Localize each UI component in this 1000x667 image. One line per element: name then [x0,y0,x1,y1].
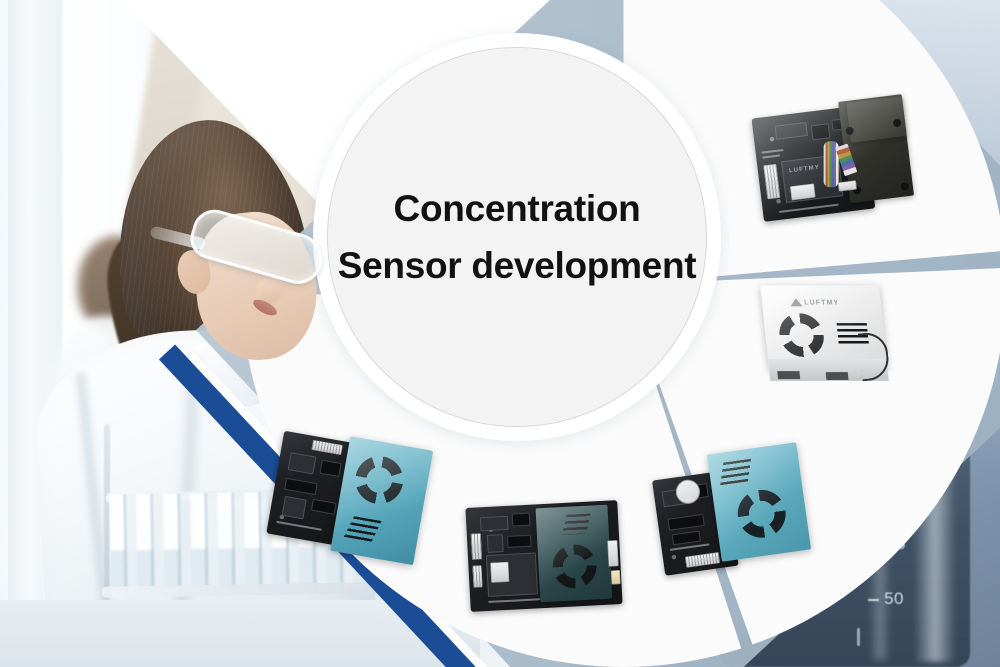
air-vents [562,513,591,535]
side-slot [826,372,849,380]
fan-cutout-icon [551,543,597,589]
ic-chip [507,535,532,548]
fan-cutout-icon [351,452,407,508]
product-image-white-metal-housing-pm-sensor[interactable]: LUFTMY [755,278,897,396]
pcb-board [465,500,622,612]
ic-chip [487,534,504,553]
ic-chip [512,513,531,527]
brand-logo-icon [790,298,803,306]
fan-cutout-icon [735,487,789,541]
pin-header [472,565,482,587]
page-title-line-2: Sensor development [338,237,697,294]
product-image-laser-dust-sensor-module-black[interactable]: LUFTMY [751,94,916,224]
fan-cutout-icon [777,313,826,357]
product-image-teal-laser-pm2-5-sensor[interactable] [650,442,813,579]
air-vents [720,459,751,486]
sensor-shell-dark-teal [535,505,612,603]
side-connector [611,570,621,584]
ic-chip [282,496,307,520]
banner-stage: 75 50 Concentration Sensor development [0,0,1000,667]
air-vents [343,516,382,543]
module-pad [490,562,509,583]
edge-pad [790,184,816,201]
side-slot [777,371,800,379]
connector-pins [471,533,482,559]
connector-pins [472,565,482,587]
brand-label-luftmy: LUFTMY [804,299,840,306]
sensor-shell-teal [707,442,811,561]
center-disc: Concentration Sensor development [327,47,707,427]
product-image-dark-teal-dust-sensor-module[interactable] [465,500,622,612]
side-connector [607,540,618,566]
ic-chip [811,123,831,140]
ic-chip [480,516,509,531]
page-title-line-1: Concentration [394,180,641,237]
pin-header [471,533,482,559]
